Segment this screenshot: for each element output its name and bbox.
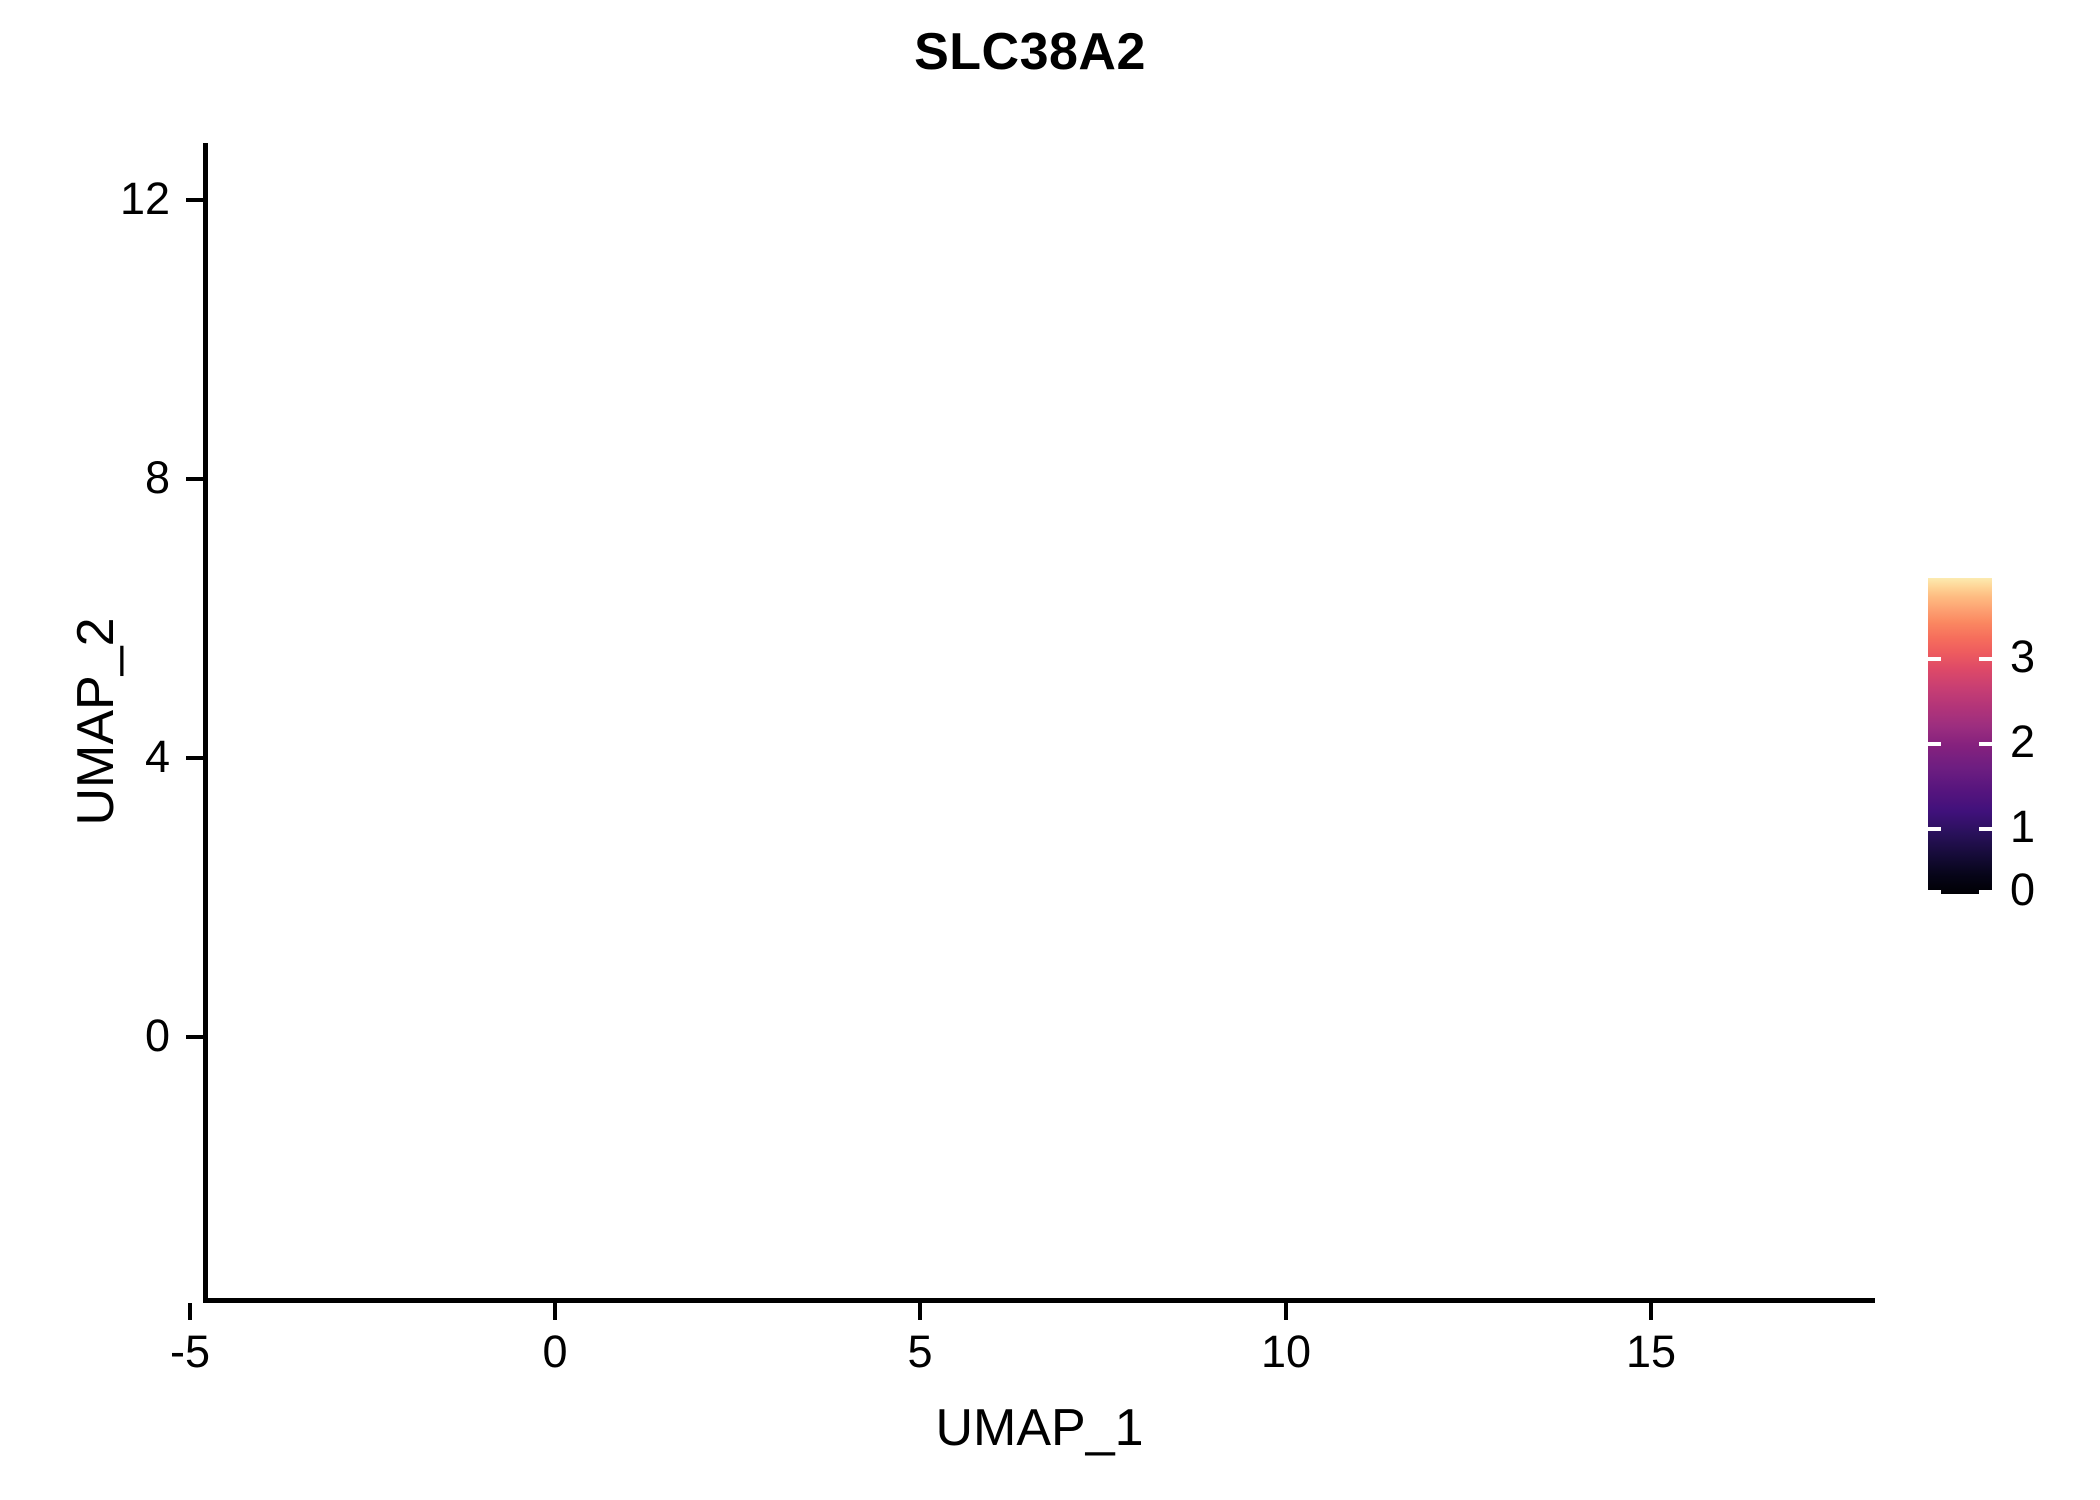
- colorbar-tick: [1979, 742, 1992, 746]
- x-axis-tick-label: 5: [840, 1327, 1000, 1377]
- colorbar-tick: [1979, 657, 1992, 661]
- y-axis-tick: [186, 756, 203, 760]
- colorbar-tick-label: 0: [2010, 867, 2035, 912]
- colorbar-tick: [1928, 742, 1941, 746]
- x-axis-tick-label: 10: [1206, 1327, 1366, 1377]
- colorbar-tick: [1928, 657, 1941, 661]
- x-axis-tick: [1649, 1303, 1653, 1320]
- x-axis-tick: [188, 1303, 192, 1320]
- colorbar-tick: [1928, 890, 1941, 894]
- x-axis-line: [203, 1298, 1875, 1303]
- colorbar-tick-label: 2: [2010, 719, 2035, 764]
- plot-panel: [207, 143, 1872, 1300]
- x-axis-tick: [553, 1303, 557, 1320]
- colorbar-tick-label: 1: [2010, 804, 2035, 849]
- colorbar-legend: [1928, 578, 1992, 894]
- y-axis-tick: [186, 1035, 203, 1039]
- figure-canvas: SLC38A2 -5 0 5 10 15 12 8 4 0 UMAP_1 UMA…: [0, 0, 2100, 1500]
- x-axis-tick-label: 15: [1571, 1327, 1731, 1377]
- x-axis-tick: [1284, 1303, 1288, 1320]
- x-axis-title: UMAP_1: [207, 1398, 1872, 1458]
- colorbar-tick: [1979, 827, 1992, 831]
- x-axis-tick-label: -5: [110, 1327, 270, 1377]
- y-axis-tick: [186, 198, 203, 202]
- colorbar-gradient: [1928, 578, 1992, 894]
- page-title: SLC38A2: [0, 26, 2060, 78]
- y-axis-line: [203, 143, 208, 1303]
- colorbar-tick: [1928, 827, 1941, 831]
- colorbar-tick: [1979, 890, 1992, 894]
- y-axis-tick: [186, 477, 203, 481]
- y-axis-title: UMAP_2: [66, 143, 132, 1300]
- x-axis-tick: [918, 1303, 922, 1320]
- colorbar-tick-label: 3: [2010, 634, 2035, 679]
- x-axis-tick-label: 0: [475, 1327, 635, 1377]
